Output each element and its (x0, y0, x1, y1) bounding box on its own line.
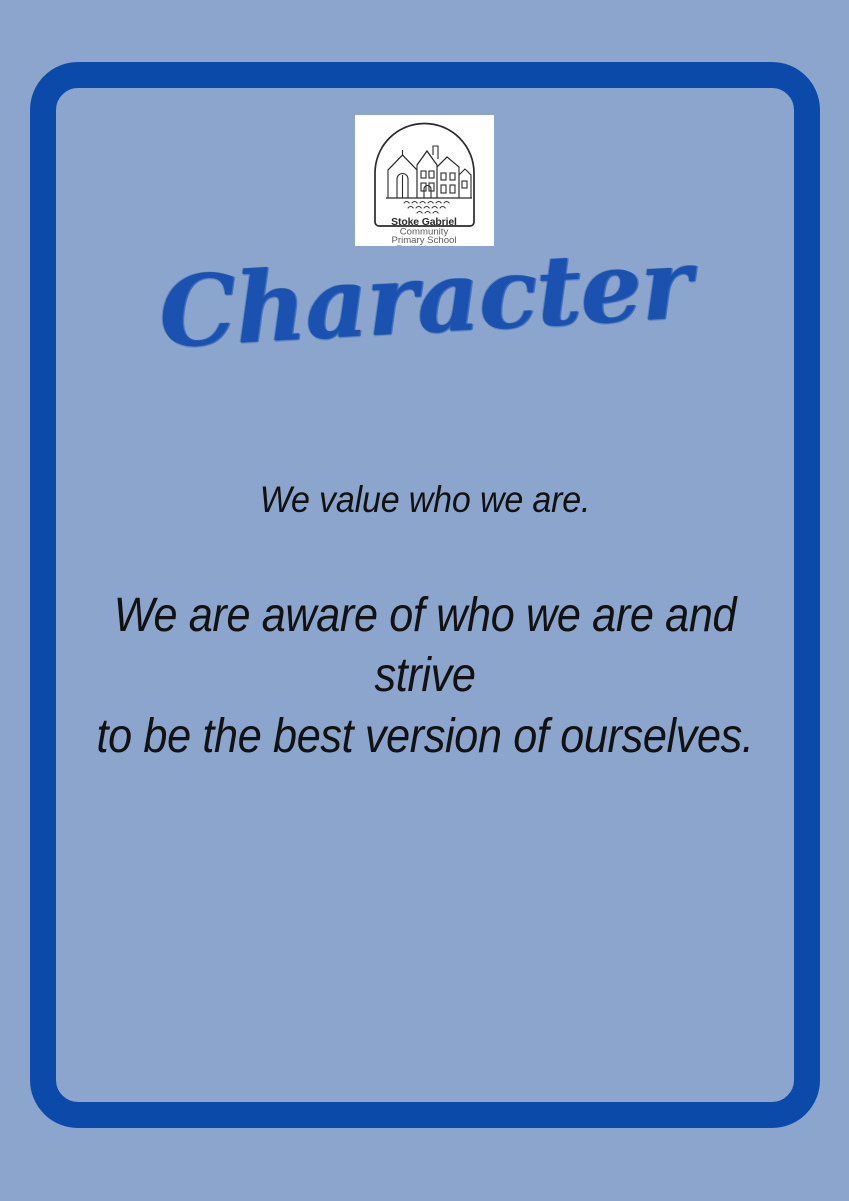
value-statements: We value who we are. We are aware of who… (22, 478, 828, 767)
value-statement-body-line-1: We are aware of who we are and strive (62, 586, 787, 707)
value-statement-body-line-2: to be the best version of ourselves. (62, 707, 787, 767)
page-title: Character (54, 227, 797, 370)
school-logo-artwork: Stoke Gabriel Community Primary School T… (355, 115, 494, 246)
statement-spacer (22, 522, 828, 586)
poster-content: Stoke Gabriel Community Primary School T… (56, 88, 794, 1102)
value-poster: Stoke Gabriel Community Primary School T… (0, 0, 849, 1201)
empty-lower-area (56, 768, 794, 1098)
school-logo: Stoke Gabriel Community Primary School T… (355, 115, 494, 246)
value-statement-lead: We value who we are. (54, 478, 796, 522)
